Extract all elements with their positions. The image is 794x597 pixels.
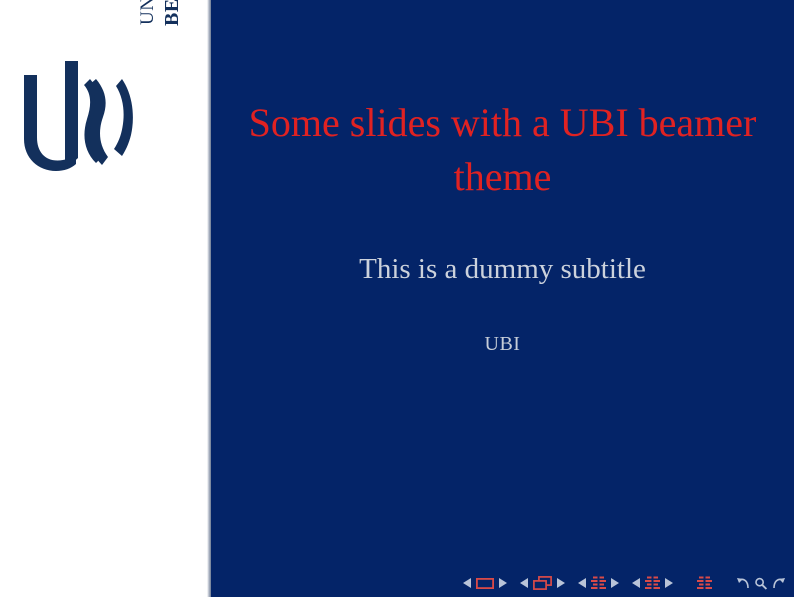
slide-title: Some slides with a UBI beamer theme (211, 96, 794, 205)
history-navigation-group (723, 577, 788, 590)
presentation-marker-icon[interactable] (695, 576, 714, 591)
logo-sidebar: UNIVERSIDADE BEIRA INTERIOR (0, 0, 207, 597)
next-frame-icon[interactable] (554, 578, 567, 588)
next-slide-icon[interactable] (496, 578, 509, 588)
logo-line-universidade: UNIVERSIDADE (138, 0, 157, 25)
section-marker-icon[interactable] (643, 576, 662, 591)
logo-line-beira-interior: BEIRA INTERIOR (162, 0, 182, 26)
forward-arrow-icon[interactable] (770, 577, 788, 590)
title-area: Some slides with a UBI beamer theme (211, 96, 794, 205)
previous-frame-icon[interactable] (518, 578, 531, 588)
slide-subtitle: This is a dummy subtitle (211, 251, 794, 289)
slide-navigation-group (461, 578, 509, 589)
previous-section-icon[interactable] (630, 578, 643, 588)
presentation-slide: UNIVERSIDADE BEIRA INTERIOR Some slides … (0, 0, 794, 597)
beamer-navigation-bar[interactable] (211, 569, 794, 597)
back-arrow-icon[interactable] (734, 577, 752, 590)
next-section-icon[interactable] (662, 578, 675, 588)
frame-navigation-group (518, 576, 567, 590)
presentation-group (684, 576, 714, 591)
previous-subsection-icon[interactable] (576, 578, 589, 588)
section-navigation-group (630, 576, 675, 591)
slide-marker-icon[interactable] (474, 578, 496, 589)
next-subsection-icon[interactable] (608, 578, 621, 588)
ubi-logo-mark (18, 61, 142, 179)
subsection-marker-icon[interactable] (589, 576, 608, 591)
slide-author: UBI (211, 333, 794, 356)
slide-body: Some slides with a UBI beamer theme This… (211, 0, 794, 597)
ubi-logo: UNIVERSIDADE BEIRA INTERIOR (14, 6, 206, 196)
frame-marker-icon[interactable] (531, 576, 554, 590)
previous-slide-icon[interactable] (461, 578, 474, 588)
subsection-navigation-group (576, 576, 621, 591)
search-icon[interactable] (752, 577, 770, 590)
